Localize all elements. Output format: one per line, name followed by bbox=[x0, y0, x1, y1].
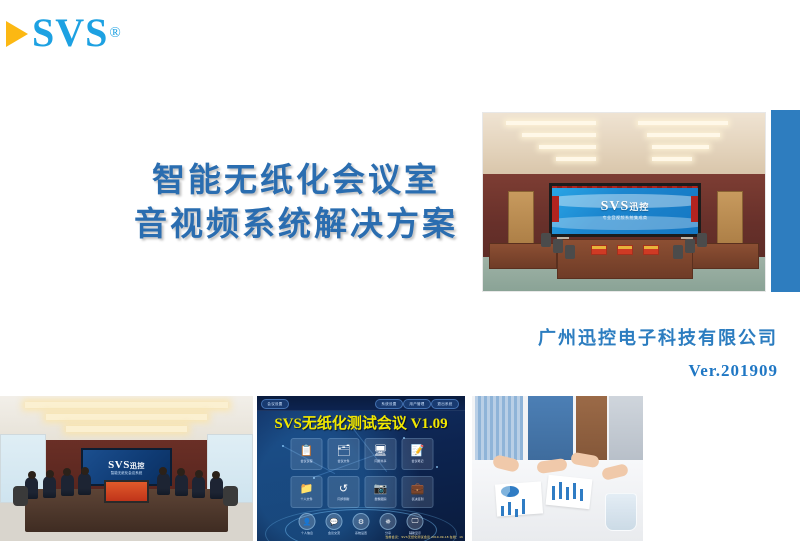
room-attendee bbox=[210, 477, 223, 499]
svs-logo: SVS ® bbox=[6, 12, 121, 54]
screen-share-icon: 🖥 bbox=[374, 445, 388, 457]
gear-icon: ⚙ bbox=[353, 513, 370, 530]
app-dock-label: 会议交流 bbox=[328, 531, 340, 535]
bottom-image-strip: SVS迅控 智能无纸化会议系统 bbox=[0, 396, 800, 541]
hero-led-screen: SVS迅控 专业音视频系统集成商 bbox=[549, 183, 701, 237]
share-icon: ✵ bbox=[380, 513, 397, 530]
version-label: Ver.201909 bbox=[538, 356, 778, 386]
hero-chair bbox=[685, 239, 695, 253]
app-tile-label: 会议文件 bbox=[337, 459, 349, 463]
meeting-room-photo: SVS迅控 智能无纸化会议系统 bbox=[0, 396, 253, 541]
room-attendee bbox=[175, 474, 188, 496]
app-topbar-button-3[interactable]: 退出系统 bbox=[431, 399, 459, 409]
app-dock-label: 个人信息 bbox=[301, 531, 313, 535]
monitor-icon: 🖵 bbox=[407, 513, 424, 530]
pie-chart-graphic bbox=[501, 486, 519, 497]
app-tile-label: 个人文件 bbox=[300, 497, 312, 501]
camera-icon: 📷 bbox=[374, 483, 388, 495]
app-dock-label: 系统设置 bbox=[355, 531, 367, 535]
briefcase-icon: 💼 bbox=[411, 483, 425, 495]
hero-conference-room-image: SVS迅控 专业音视频系统集成商 bbox=[482, 112, 766, 292]
app-topbar-button-2[interactable]: 用户管理 bbox=[403, 399, 431, 409]
app-topbar-button-0[interactable]: 会议设置 bbox=[261, 399, 289, 409]
document-icon: 🗂 bbox=[337, 445, 351, 457]
app-dock-display[interactable]: 🖵 辅助显示 bbox=[407, 513, 424, 535]
registered-trademark-icon: ® bbox=[109, 26, 120, 41]
title-line-2: 音视频系统解决方案 bbox=[106, 202, 486, 246]
app-tile-notes[interactable]: 📝 会议笔记 bbox=[402, 438, 434, 470]
hero-chair bbox=[697, 233, 707, 247]
app-dock-chat[interactable]: 💬 会议交流 bbox=[326, 513, 343, 535]
app-tile-label: 同步刷新 bbox=[337, 497, 349, 501]
room-attendee bbox=[157, 473, 170, 495]
app-dock-share[interactable]: ✵ 分享 bbox=[380, 513, 397, 535]
room-chair bbox=[13, 486, 28, 506]
hero-chair bbox=[553, 239, 563, 253]
app-tile-screen-share[interactable]: 🖥 同屏共享 bbox=[365, 438, 397, 470]
hero-ceiling bbox=[483, 113, 765, 174]
app-tile-label: 摄像跟踪 bbox=[374, 497, 386, 501]
hero-desk-flag-2 bbox=[617, 245, 633, 255]
user-icon: 👤 bbox=[299, 513, 316, 530]
message-icon: 💬 bbox=[326, 513, 343, 530]
app-tile-sync[interactable]: ↺ 同步刷新 bbox=[328, 476, 360, 508]
room-chair bbox=[223, 486, 238, 506]
app-tile-camera-tracking[interactable]: 📷 摄像跟踪 bbox=[365, 476, 397, 508]
app-topbar-button-1[interactable]: 系统设置 bbox=[375, 399, 403, 409]
water-glass bbox=[605, 493, 637, 531]
hero-screen-brand: SVS迅控 bbox=[601, 199, 650, 215]
hero-screen-subtitle: 专业音视频系统集成商 bbox=[603, 215, 648, 221]
app-tile-grid: 📋 会议议程 🗂 会议文件 🖥 同屏共享 📝 会议笔记 📁 个人文 bbox=[291, 438, 432, 508]
hero-chair bbox=[565, 245, 575, 259]
app-status-bar: 当前会议：SVS无纸化测试会议 2019-09-18 在线：16 bbox=[385, 535, 463, 539]
room-attendee bbox=[61, 474, 74, 496]
refresh-icon: ↺ bbox=[339, 483, 348, 495]
hero-desk-flag-3 bbox=[643, 245, 659, 255]
company-block: 广州迅控电子科技有限公司 Ver.201909 bbox=[538, 326, 778, 386]
app-tile-voting-signin[interactable]: 💼 表决签到 bbox=[402, 476, 434, 508]
app-tile-label: 同屏共享 bbox=[374, 459, 386, 463]
folder-icon: 📁 bbox=[300, 483, 314, 495]
hero-chair bbox=[541, 233, 551, 247]
company-name: 广州迅控电子科技有限公司 bbox=[538, 326, 778, 352]
app-dock-settings[interactable]: ⚙ 系统设置 bbox=[353, 513, 370, 535]
note-icon: 📝 bbox=[411, 445, 425, 457]
room-laptop bbox=[104, 480, 150, 503]
logo-wordmark: SVS bbox=[32, 13, 108, 53]
room-attendee bbox=[43, 476, 56, 498]
team-discussion-photo bbox=[472, 396, 643, 541]
app-tile-label: 表决签到 bbox=[411, 497, 423, 501]
decorative-blue-bar bbox=[771, 110, 800, 292]
room-screen-subtitle: 智能无纸化会议系统 bbox=[111, 471, 143, 476]
app-dock-user[interactable]: 👤 个人信息 bbox=[299, 513, 316, 535]
app-tile-label: 会议议程 bbox=[300, 459, 312, 463]
hero-desk-flag-1 bbox=[591, 245, 607, 255]
presentation-cover-slide: SVS ® 智能无纸化会议室 音视频系统解决方案 bbox=[0, 0, 800, 541]
clipboard-icon: 📋 bbox=[300, 445, 314, 457]
page-title: 智能无纸化会议室 音视频系统解决方案 bbox=[106, 158, 486, 246]
app-tile-documents[interactable]: 🗂 会议文件 bbox=[328, 438, 360, 470]
title-line-1: 智能无纸化会议室 bbox=[106, 158, 486, 202]
app-tile-label: 会议笔记 bbox=[411, 459, 423, 463]
app-tile-agenda[interactable]: 📋 会议议程 bbox=[291, 438, 323, 470]
app-title: SVS无纸化测试会议 V1.09 bbox=[257, 412, 465, 433]
play-triangle-icon bbox=[6, 21, 28, 47]
paperless-conference-app: 会议设置 系统设置 用户管理 退出系统 SVS无纸化测试会议 V1.09 📋 会… bbox=[257, 396, 465, 541]
room-attendee bbox=[78, 473, 91, 495]
room-attendee bbox=[192, 476, 205, 498]
hero-chair bbox=[673, 245, 683, 259]
room-screen-brand: SVS迅控 bbox=[108, 459, 145, 471]
app-dock: 👤 个人信息 💬 会议交流 ⚙ 系统设置 ✵ 分享 🖵 辅助显示 bbox=[299, 513, 424, 535]
app-tile-personal-files[interactable]: 📁 个人文件 bbox=[291, 476, 323, 508]
